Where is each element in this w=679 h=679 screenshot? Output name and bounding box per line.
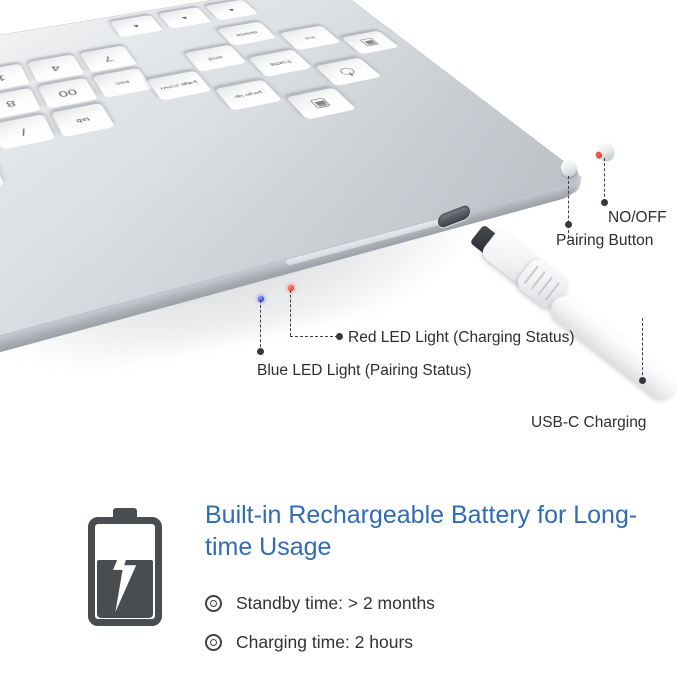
cable-wire (546, 291, 679, 405)
leader-red-led-h (290, 336, 338, 337)
key-label: 4 (49, 64, 62, 73)
battery-feature-block: Built-in Rechargeable Battery for Long-t… (0, 450, 679, 679)
leader-pairing (568, 176, 569, 238)
feature-bullet-list: Standby time: > 2 months Charging time: … (205, 593, 435, 671)
key-label: delete (234, 30, 259, 37)
callout-pairing-button: Pairing Button (556, 232, 653, 250)
callout-no-off: NO/OFF (608, 209, 667, 227)
leader-dot-blue-led (257, 348, 264, 355)
double-circle-bullet-icon (205, 634, 222, 651)
feature-heading: Built-in Rechargeable Battery for Long-t… (205, 500, 645, 563)
leader-dot-red-led (336, 333, 343, 340)
power-switch-hardware[interactable] (595, 141, 615, 162)
callout-red-led: Red LED Light (Charging Status) (348, 329, 575, 347)
leader-blue-led (260, 300, 261, 352)
blue-led-lamp (258, 296, 264, 302)
callout-usb-c: USB-C Charging (531, 414, 646, 432)
usb-c-cable (462, 222, 679, 412)
red-led-lamp (288, 285, 294, 291)
double-circle-bullet-icon (205, 595, 222, 612)
leader-dot-no-off (601, 199, 608, 206)
list-item: Charging time: 2 hours (205, 632, 435, 653)
bullet-label: Charging time: 2 hours (236, 632, 413, 653)
product-feature-graphic: ▲ ▲ ▲ 0 1 4 7 2 5 8 00 esc 3 6 9 / tab +… (0, 0, 679, 679)
bullet-label: Standby time: > 2 months (236, 593, 435, 614)
leader-dot-usb-c (639, 377, 646, 384)
product-photo: ▲ ▲ ▲ 0 1 4 7 2 5 8 00 esc 3 6 9 / tab +… (0, 0, 679, 450)
leader-dot-pairing (565, 221, 572, 228)
power-red-indicator (595, 151, 603, 160)
battery-charging-icon (88, 508, 162, 626)
leader-red-led (290, 290, 291, 336)
list-item: Standby time: > 2 months (205, 593, 435, 614)
leader-no-off (604, 158, 605, 202)
leader-usb-c (642, 318, 643, 380)
callout-blue-led: Blue LED Light (Pairing Status) (257, 362, 472, 380)
